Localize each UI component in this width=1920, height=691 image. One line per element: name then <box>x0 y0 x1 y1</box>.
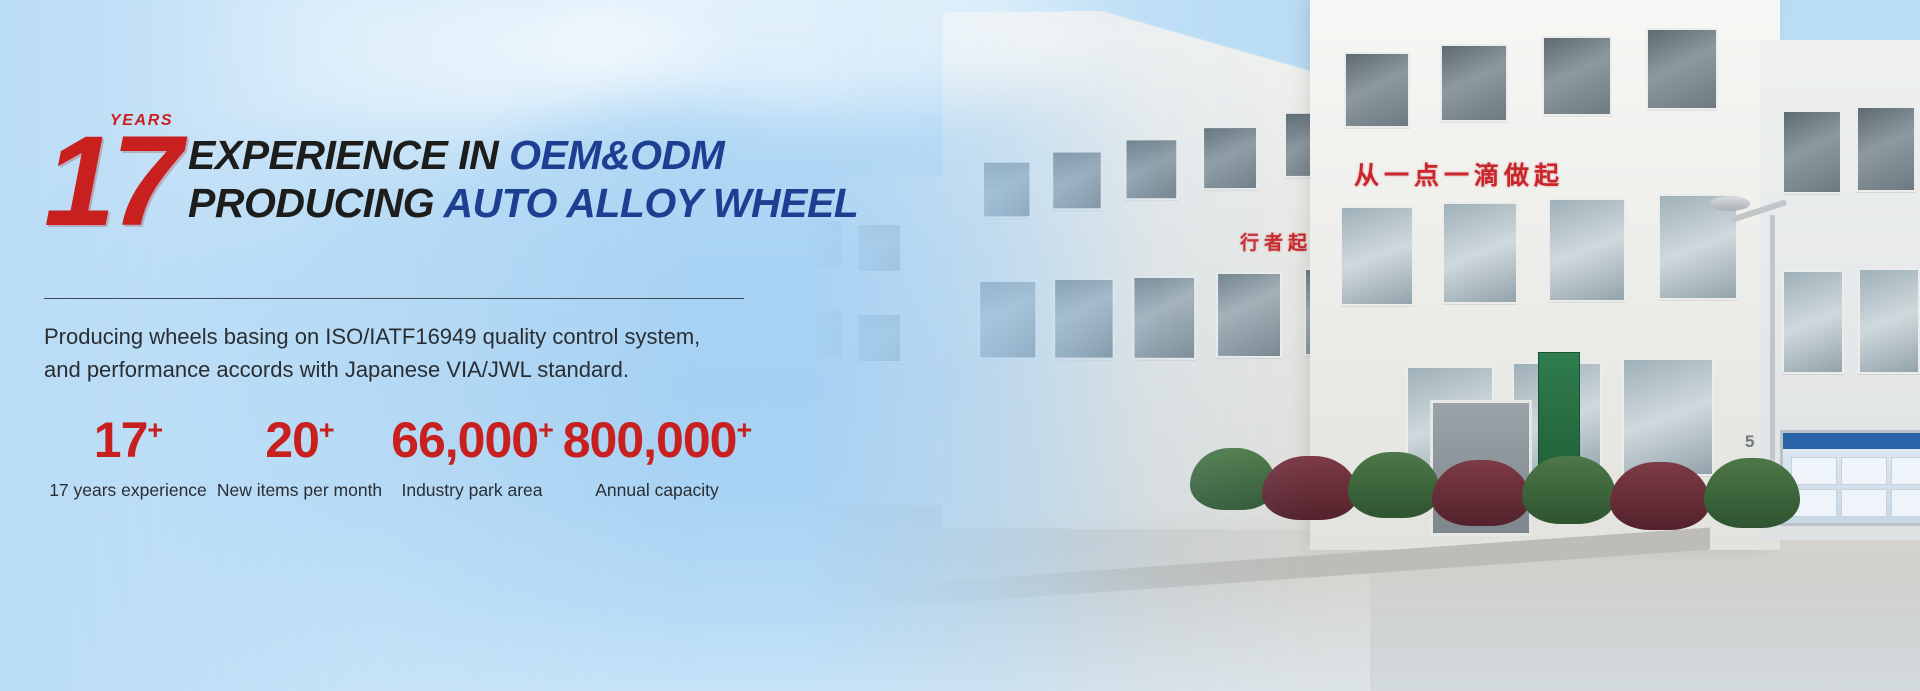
stat-value: 17+ <box>94 415 162 465</box>
description-line-2: and performance accords with Japanese VI… <box>44 353 764 386</box>
notice-board-cell <box>1891 489 1920 517</box>
window <box>1132 276 1196 360</box>
years-number: 17 <box>44 118 178 246</box>
window <box>1782 110 1842 194</box>
description-line-1: Producing wheels basing on ISO/IATF16949… <box>44 320 764 353</box>
stat-item-new-items: 20+ New items per month <box>212 415 387 501</box>
window <box>1622 358 1714 476</box>
notice-board <box>1780 430 1920 526</box>
window <box>1125 138 1179 200</box>
stat-suffix: + <box>319 417 334 444</box>
headline-line-1-dark: EXPERIENCE IN <box>188 132 509 178</box>
stat-suffix: + <box>538 417 553 444</box>
stat-label: Annual capacity <box>595 480 719 501</box>
banner-content: YEARS 17 EXPERIENCE IN OEM&ODM PRODUCING… <box>0 0 900 691</box>
street-lamp-pole <box>1770 215 1775 475</box>
notice-board-cell <box>1891 457 1920 485</box>
window <box>1548 198 1626 302</box>
window <box>1051 150 1102 210</box>
green-vertical-banner <box>1538 352 1580 472</box>
shrub <box>1262 456 1358 520</box>
notice-board-cell <box>1841 457 1887 485</box>
stat-value: 20+ <box>265 415 333 465</box>
shrub <box>1348 452 1440 518</box>
window <box>1053 278 1114 360</box>
building-number-label: 5 <box>1745 432 1754 452</box>
window <box>982 161 1031 219</box>
stat-value: 66,000+ <box>391 415 553 465</box>
stat-number: 66,000 <box>391 415 538 465</box>
window <box>1542 36 1612 116</box>
company-strength-banner: 行者起来 保护环境 从自己做起 从一点一滴做起 <box>0 0 1920 691</box>
window <box>1216 272 1282 358</box>
stat-suffix: + <box>736 417 751 444</box>
window <box>1646 28 1718 110</box>
notice-board-cell <box>1791 457 1837 485</box>
wall-slogan-text: 从一点一滴做起 <box>1354 156 1564 192</box>
shrub <box>1704 458 1800 528</box>
headline: EXPERIENCE IN OEM&ODM PRODUCING AUTO ALL… <box>188 132 888 227</box>
stat-label: Industry park area <box>401 480 542 501</box>
notice-board-header <box>1783 433 1920 449</box>
window <box>1782 270 1844 374</box>
window <box>1340 206 1414 306</box>
window <box>1856 106 1916 192</box>
window <box>1442 202 1518 304</box>
stat-number: 20 <box>265 415 319 465</box>
stat-number: 800,000 <box>563 415 737 465</box>
window <box>1344 52 1410 128</box>
headline-line-2: PRODUCING AUTO ALLOY WHEEL <box>188 180 888 228</box>
window <box>1440 44 1508 122</box>
stat-item-annual-capacity: 800,000+ Annual capacity <box>557 415 757 501</box>
headline-line-1: EXPERIENCE IN OEM&ODM <box>188 132 888 180</box>
shrub <box>1432 460 1530 526</box>
stat-value: 800,000+ <box>563 415 752 465</box>
window <box>978 280 1037 360</box>
notice-board-cell <box>1841 489 1887 517</box>
description-text: Producing wheels basing on ISO/IATF16949… <box>44 320 764 387</box>
stats-row: 17+ 17 years experience 20+ New items pe… <box>44 415 757 501</box>
stat-label: New items per month <box>217 480 382 501</box>
stat-label: 17 years experience <box>49 480 207 501</box>
headline-divider <box>44 298 744 299</box>
stat-suffix: + <box>147 417 162 444</box>
shrub <box>1610 462 1710 530</box>
street-lamp-head <box>1710 196 1750 211</box>
headline-line-1-blue: OEM&ODM <box>509 132 724 178</box>
stat-item-park-area: 66,000+ Industry park area <box>387 415 557 501</box>
headline-line-2-blue: AUTO ALLOY WHEEL <box>443 180 858 226</box>
shrub <box>1522 456 1616 524</box>
window <box>1858 268 1920 374</box>
stat-item-years-experience: 17+ 17 years experience <box>44 415 212 501</box>
stat-number: 17 <box>94 415 148 465</box>
headline-line-2-dark: PRODUCING <box>188 180 443 226</box>
